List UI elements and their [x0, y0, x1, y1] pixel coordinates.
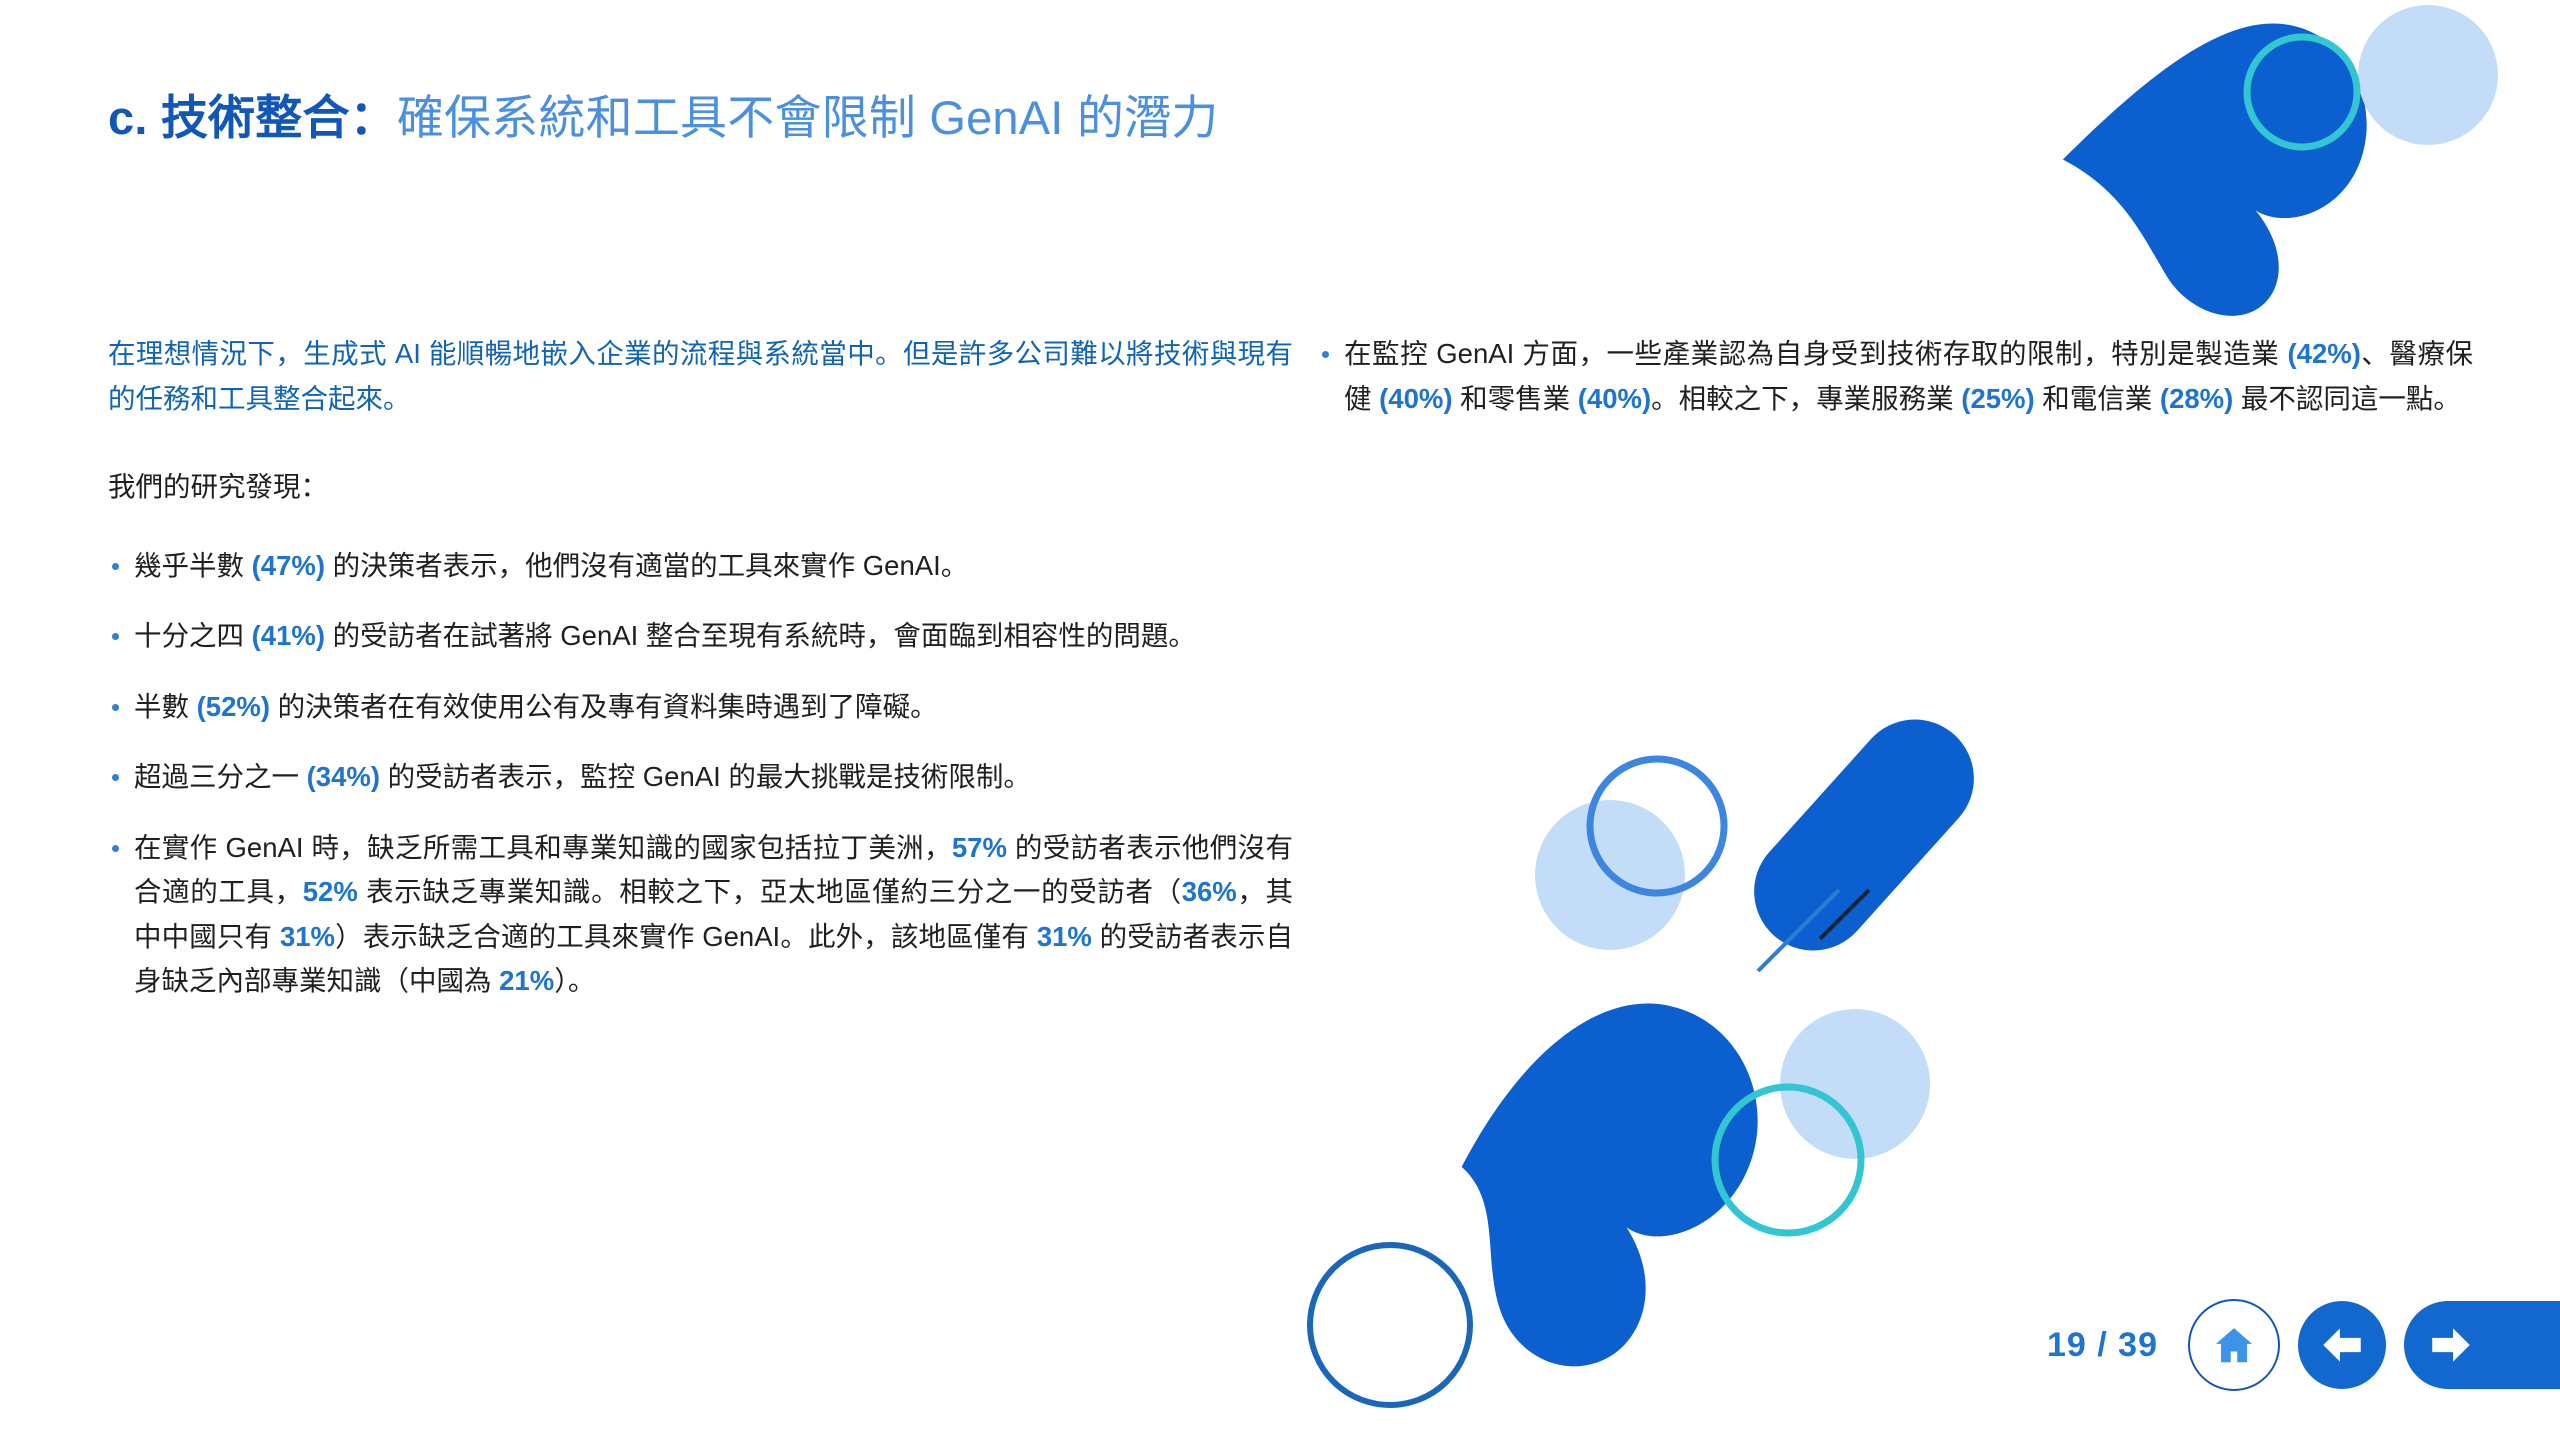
page-counter: 19 / 39 [2047, 1326, 2158, 1365]
stat-value: (40%) [1379, 383, 1452, 414]
list-item-text: 十分之四 [134, 620, 252, 651]
list-item-text: 最不認同這一點。 [2233, 383, 2461, 414]
stat-value: (47%) [252, 550, 325, 581]
list-item: 幾乎半數 (47%) 的決策者表示，他們沒有適當的工具來實作 GenAI。 [108, 544, 1293, 589]
list-item-text: 半數 [134, 691, 197, 722]
list-item-text: ）。 [554, 965, 595, 996]
list-item: 超過三分之一 (34%) 的受訪者表示，監控 GenAI 的最大挑戰是技術限制。 [108, 755, 1293, 800]
right-bullet-list: 在監控 GenAI 方面，一些產業認為自身受到技術存取的限制，特別是製造業 (4… [1318, 332, 2473, 421]
list-item: 在監控 GenAI 方面，一些產業認為自身受到技術存取的限制，特別是製造業 (4… [1318, 332, 2473, 421]
list-item-text: 的受訪者在試著將 GenAI 整合至現有系統時，會面臨到相容性的問題。 [325, 620, 1196, 651]
list-item-text: 在監控 GenAI 方面，一些產業認為自身受到技術存取的限制，特別是製造業 [1344, 338, 2288, 369]
stat-value: (40%) [1578, 383, 1651, 414]
stat-value: (52%) [197, 691, 270, 722]
arrow-left-icon [2317, 1320, 2367, 1370]
page-title: c. 技術整合：確保系統和工具不會限制 GenAI 的潛力 [108, 88, 1808, 148]
list-item-text: 超過三分之一 [134, 761, 307, 792]
left-content-column: 在理想情況下，生成式 AI 能順暢地嵌入企業的流程與系統當中。但是許多公司難以將… [108, 332, 1293, 1004]
stat-value: (25%) [1961, 383, 2034, 414]
list-item: 在實作 GenAI 時，缺乏所需工具和專業知識的國家包括拉丁美洲，57% 的受訪… [108, 826, 1293, 1004]
findings-lead: 我們的研究發現： [108, 465, 1293, 510]
pale-circle-mid [1535, 800, 1685, 950]
blue-ring-bottom-left [1310, 1245, 1470, 1405]
stat-value: 52% [303, 876, 358, 907]
list-item-text: 在實作 GenAI 時，缺乏所需工具和專業知識的國家包括拉丁美洲， [134, 832, 952, 863]
leaf-shape-bottom [1443, 989, 1790, 1378]
stat-value: (41%) [252, 620, 325, 651]
stat-value: (34%) [307, 761, 380, 792]
diagonal-line-outer [1758, 890, 1839, 971]
home-icon [2211, 1322, 2257, 1368]
home-button[interactable] [2188, 1299, 2280, 1391]
list-item-text: 和零售業 [1453, 383, 1578, 414]
list-item: 十分之四 (41%) 的受訪者在試著將 GenAI 整合至現有系統時，會面臨到相… [108, 614, 1293, 659]
stat-value: 31% [1037, 921, 1092, 952]
list-item-text: 。相較之下，專業服務業 [1651, 383, 1961, 414]
pale-circle-bottom [1780, 1009, 1930, 1159]
list-item-text: 和電信業 [2035, 383, 2160, 414]
left-bullet-list: 幾乎半數 (47%) 的決策者表示，他們沒有適當的工具來實作 GenAI。十分之… [108, 544, 1293, 1004]
pale-circle-top-right [2358, 5, 2498, 145]
cyan-ring-top-right [2247, 37, 2357, 147]
page-title-rest: 確保系統和工具不會限制 GenAI 的潛力 [397, 91, 1219, 144]
list-item-text: 的受訪者表示，監控 GenAI 的最大挑戰是技術限制。 [380, 761, 1031, 792]
previous-slide-button[interactable] [2298, 1301, 2386, 1389]
stat-value: (28%) [2160, 383, 2233, 414]
list-item-text: ）表示缺乏合適的工具來實作 GenAI。此外，該地區僅有 [335, 921, 1037, 952]
list-item: 半數 (52%) 的決策者在有效使用公有及專有資料集時遇到了障礙。 [108, 685, 1293, 730]
capsule-shape [1730, 695, 1998, 975]
slide-navigation: 19 / 39 [2047, 1297, 2560, 1393]
next-slide-button[interactable] [2404, 1301, 2560, 1389]
arrow-right-icon [2426, 1320, 2476, 1370]
stat-value: 57% [952, 832, 1007, 863]
page-title-prefix: c. 技術整合： [108, 91, 397, 144]
stat-value: 36% [1182, 876, 1237, 907]
right-content-column: 在監控 GenAI 方面，一些產業認為自身受到技術存取的限制，特別是製造業 (4… [1318, 332, 2473, 421]
stat-value: 21% [499, 965, 554, 996]
list-item-text: 幾乎半數 [134, 550, 252, 581]
cyan-ring-bottom [1715, 1087, 1861, 1233]
stat-value: (42%) [2288, 338, 2361, 369]
list-item-text: 的決策者表示，他們沒有適當的工具來實作 GenAI。 [325, 550, 968, 581]
list-item-text: 表示缺乏專業知識。相較之下，亞太地區僅約三分之一的受訪者（ [358, 876, 1182, 907]
leaf-shape-top-right [2044, 6, 2402, 344]
blue-ring-mid [1590, 759, 1724, 893]
diagonal-line-inner [1820, 890, 1869, 939]
intro-paragraph: 在理想情況下，生成式 AI 能順暢地嵌入企業的流程與系統當中。但是許多公司難以將… [108, 332, 1293, 421]
list-item-text: 的決策者在有效使用公有及專有資料集時遇到了障礙。 [270, 691, 938, 722]
stat-value: 31% [280, 921, 335, 952]
